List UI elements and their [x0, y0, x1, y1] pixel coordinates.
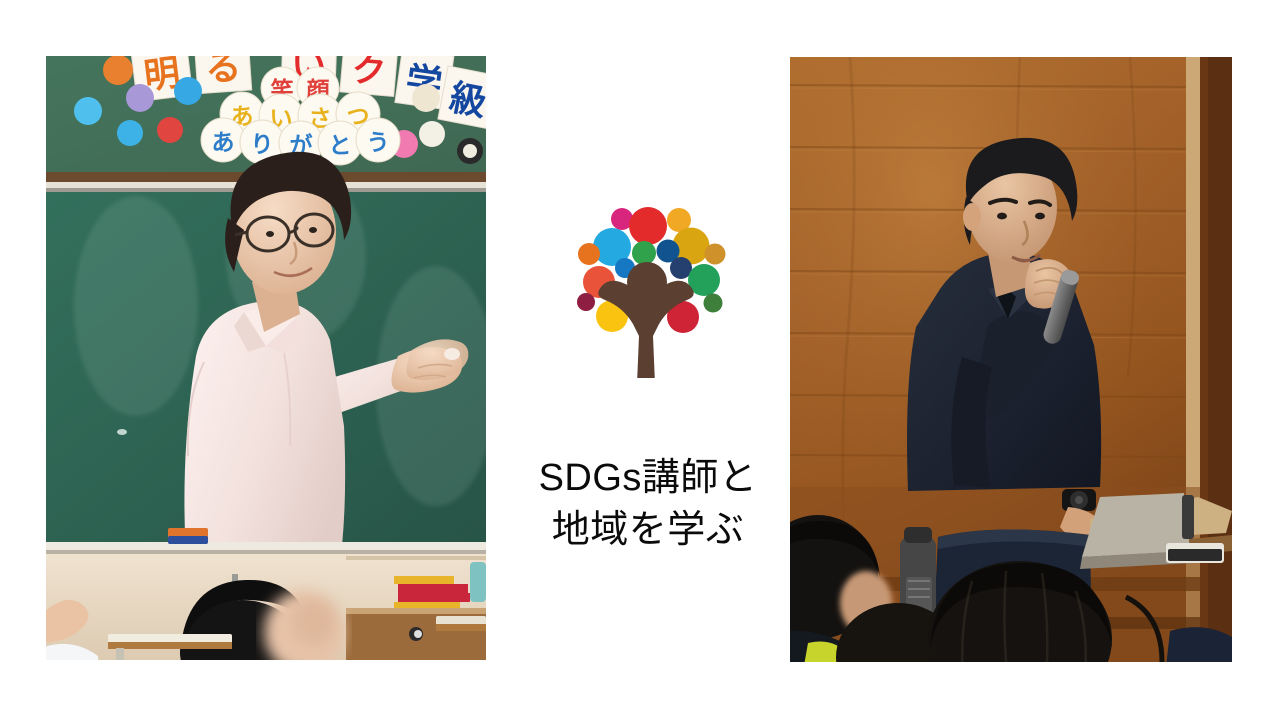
svg-text:る: る [204, 56, 243, 90]
wristwatch-icon [1062, 489, 1096, 511]
logo-graphic [555, 202, 741, 378]
logo-circle-orange [578, 243, 600, 265]
classroom-lecture-photo: 明 る い ク 学 [46, 56, 486, 660]
svg-text:と: と [329, 133, 352, 159]
svg-text:ク: ク [350, 56, 387, 93]
logo-circle-forestgreen [704, 294, 723, 313]
slide-canvas: 明 る い ク 学 [0, 0, 1280, 720]
logo-circle-darkgold [705, 244, 726, 265]
svg-text:あ: あ [212, 130, 235, 156]
caption-line-1: SDGs講師と [539, 452, 758, 504]
hall-photo-graphic [790, 57, 1232, 662]
center-content-block: SDGs講師と 地域を学ぶ [506, 190, 790, 570]
logo-circle-green [632, 241, 656, 265]
hall-lecture-photo [790, 57, 1232, 662]
logo-circle-red [629, 207, 667, 245]
sdgs-tree-person-logo [555, 202, 741, 378]
svg-text:り: り [251, 132, 274, 158]
svg-text:う: う [367, 130, 390, 156]
logo-circle-maroon [577, 293, 595, 311]
caption-line-2: 地域を学ぶ [539, 504, 758, 556]
svg-text:級: 級 [446, 77, 486, 124]
classroom-photo-graphic: 明 る い ク 学 [46, 56, 486, 660]
page-title: SDGs講師と 地域を学ぶ [539, 452, 758, 557]
